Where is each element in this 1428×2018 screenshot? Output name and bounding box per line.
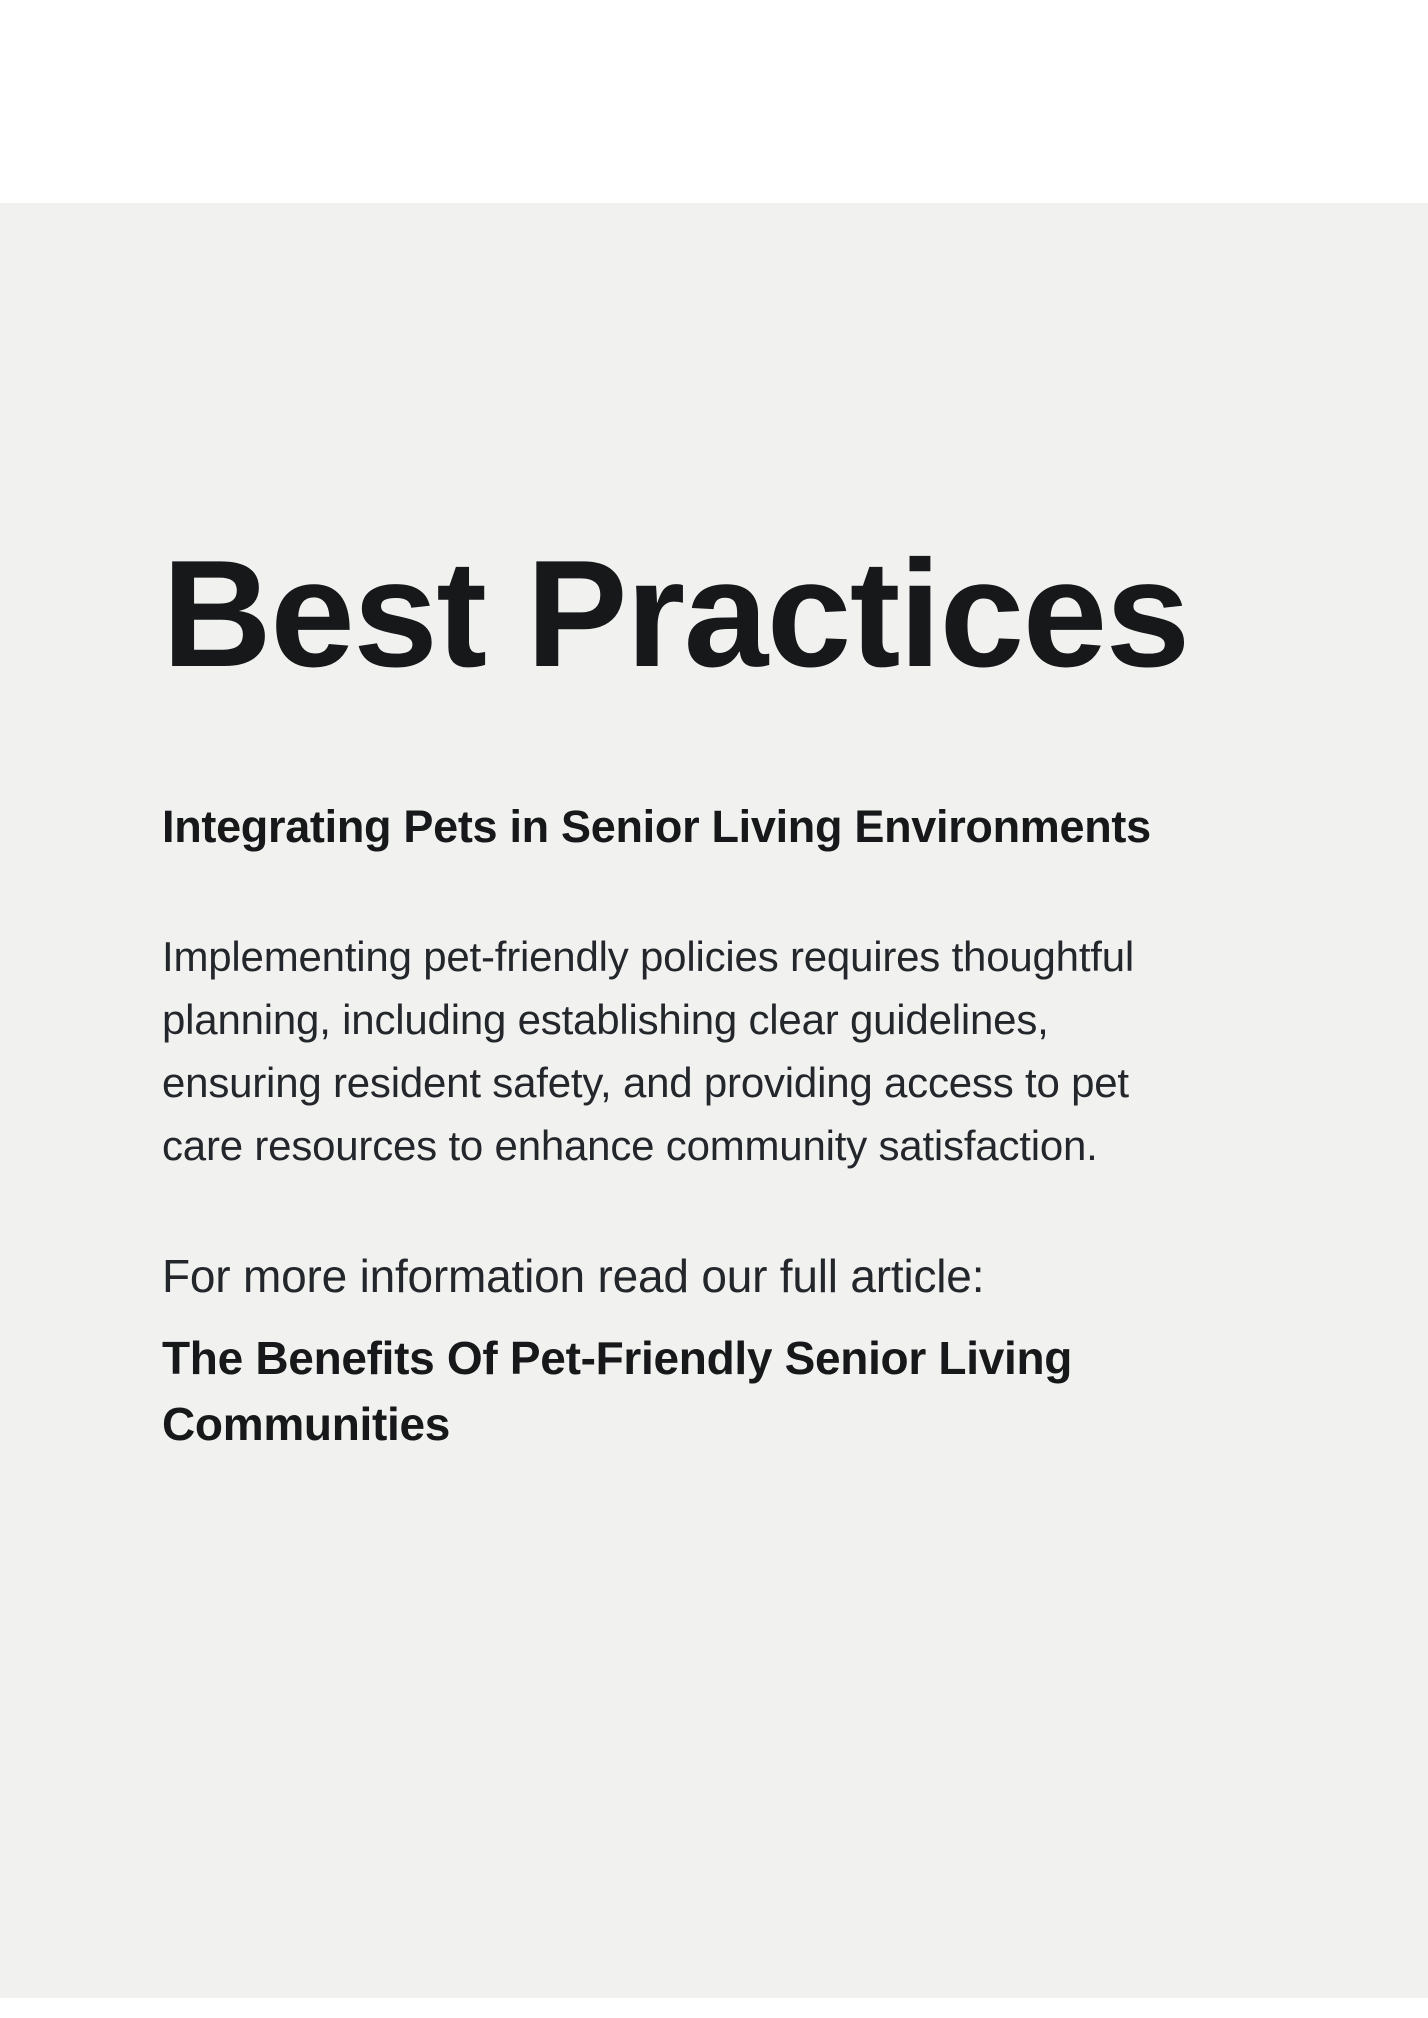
cta-article-title[interactable]: The Benefits Of Pet-Friendly Senior Livi… bbox=[162, 1325, 1122, 1457]
slide-canvas: Best Practices Integrating Pets in Senio… bbox=[0, 0, 1428, 2018]
cta-lead-text: For more information read our full artic… bbox=[162, 1243, 1262, 1309]
page-subtitle: Integrating Pets in Senior Living Enviro… bbox=[162, 801, 1151, 853]
page-title: Best Practices bbox=[162, 537, 1189, 692]
content-card-panel: Best Practices Integrating Pets in Senio… bbox=[0, 203, 1428, 1998]
body-paragraph: Implementing pet-friendly policies requi… bbox=[162, 925, 1172, 1177]
card-content: Best Practices Integrating Pets in Senio… bbox=[162, 203, 1428, 1998]
call-to-action-block: For more information read our full artic… bbox=[162, 1243, 1262, 1457]
